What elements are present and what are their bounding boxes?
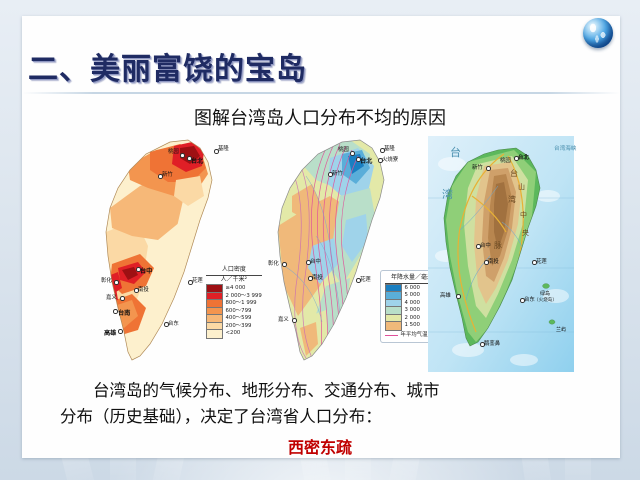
legend-label: 5 000 — [405, 292, 420, 299]
legend-label: 200～399 — [226, 323, 252, 330]
city-label: 高雄 — [104, 328, 116, 337]
maps-row: 桃园 基隆 台北 新竹 台中 彰化 南投 花莲 嘉义 台南 高雄 台东 人口密度 — [24, 136, 616, 376]
city-label: 台中 — [140, 266, 152, 275]
climate-map[interactable]: 桃园 基隆 台北 火烧寮 新竹 彰化 台中 南投 花莲 嘉义 年降水量／毫米 6… — [250, 136, 440, 376]
city-label: 台东 — [168, 319, 179, 327]
legend-label: ≥4 000 — [226, 285, 246, 292]
range-label: 山 — [518, 182, 525, 192]
city-label: 新竹 — [332, 169, 343, 177]
legend-label: 1 500 — [405, 322, 420, 329]
city-label: 桃园 — [500, 156, 511, 164]
population-density-island — [88, 136, 268, 376]
city-label: 花莲 — [192, 276, 203, 284]
city-label: 桃园 — [338, 145, 349, 153]
range-label: 台 — [510, 168, 518, 179]
title-divider — [22, 92, 620, 94]
city-label: 台南 — [118, 308, 130, 317]
page-title: 二、美丽富饶的宝岛 — [28, 44, 307, 88]
city-label: 基隆 — [218, 144, 229, 152]
island-label: 绿岛 — [540, 290, 550, 297]
city-label: 台中 — [480, 241, 491, 249]
conclusion-text: 西密东疏 — [0, 434, 640, 458]
city-label: 嘉义 — [106, 293, 117, 301]
island-label: 鹅銮鼻 — [484, 339, 500, 347]
legend-label: 3 000 — [405, 307, 420, 314]
city-label: 南投 — [312, 273, 323, 281]
isotherm-line-icon — [385, 335, 398, 336]
city-label: 台北 — [191, 156, 203, 165]
city-label: 基隆 — [384, 144, 395, 152]
city-label: 桃园 — [168, 147, 179, 155]
city-label: 彰化 — [101, 276, 112, 284]
ocean-label: 湾 — [442, 186, 453, 202]
subtitle: 图解台湾岛人口分布不均的原因 — [0, 104, 640, 130]
body-line-2: 分布（历史基础），决定了台湾省人口分布： — [60, 404, 580, 430]
range-label: 中 — [520, 210, 527, 220]
range-label: 央 — [522, 228, 529, 238]
terrain-map[interactable]: 台 湾 台湾海峡 台 湾 山 脉 中 央 台北 桃园 新竹 台中 南投 花莲 高… — [428, 136, 574, 372]
city-label: 花莲 — [360, 275, 371, 283]
ocean-label: 台 — [450, 144, 461, 160]
slide: 二、美丽富饶的宝岛 图解台湾岛人口分布不均的原因 — [0, 0, 640, 480]
island-label: （火烧岛） — [534, 297, 557, 303]
city-label: 花莲 — [536, 257, 547, 265]
city-label: 嘉义 — [278, 315, 289, 323]
population-density-map[interactable]: 桃园 基隆 台北 新竹 台中 彰化 南投 花莲 嘉义 台南 高雄 台东 人口密度 — [88, 136, 268, 376]
city-label: 火烧寮 — [382, 155, 398, 163]
body-text: 台湾岛的气候分布、地形分布、交通分布、城市 分布（历史基础），决定了台湾省人口分… — [60, 378, 580, 431]
legend-label: 6 000 — [405, 285, 420, 292]
body-line-1: 台湾岛的气候分布、地形分布、交通分布、城市 — [60, 378, 580, 404]
island-label: 兰屿 — [556, 326, 566, 333]
legend-label: 400～599 — [226, 315, 252, 322]
range-label: 脉 — [494, 240, 502, 251]
legend-label: 4 000 — [405, 300, 420, 307]
city-label: 新竹 — [472, 163, 483, 171]
city-label: 南投 — [488, 257, 499, 265]
city-label: 高雄 — [440, 291, 451, 299]
legend-swatch — [385, 321, 402, 331]
range-label: 湾 — [508, 194, 516, 205]
city-label: 台北 — [518, 153, 529, 161]
terrain-island — [428, 136, 574, 372]
legend-swatch — [206, 329, 223, 339]
city-label: 新竹 — [162, 170, 173, 178]
ocean-label: 台湾海峡 — [554, 144, 576, 152]
city-label: 台北 — [360, 156, 372, 165]
city-label: 南投 — [138, 285, 149, 293]
city-label: 彰化 — [268, 259, 279, 267]
city-label: 台中 — [310, 257, 321, 265]
globe-icon — [583, 18, 617, 52]
legend-label: <200 — [226, 330, 241, 337]
legend-label: 2 000 — [405, 315, 420, 322]
legend-label: 600～799 — [226, 308, 252, 315]
